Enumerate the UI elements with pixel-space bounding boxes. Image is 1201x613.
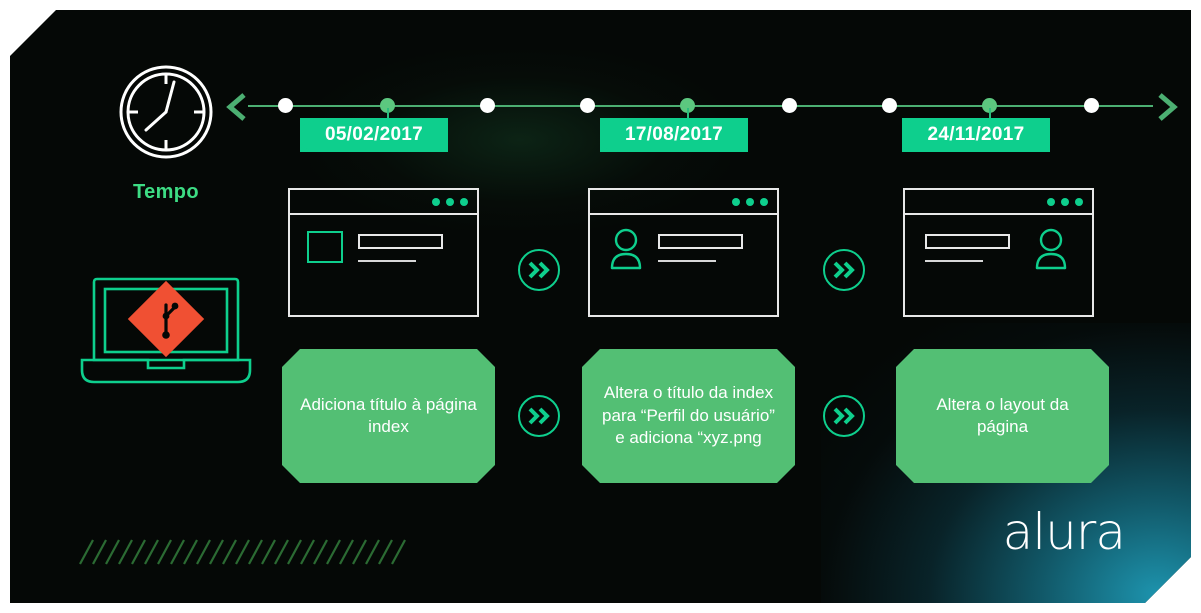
date-badge-text: 17/08/2017 [625,124,723,146]
window-dots-icon [905,190,1092,215]
user-avatar-icon [606,228,646,270]
commit-card-3[interactable]: Altera o layout da página [896,349,1109,483]
double-chevron-right-icon[interactable] [518,395,560,437]
commit-card-1[interactable]: Adiciona título à página index [282,349,495,483]
date-badge-2[interactable]: 17/08/2017 [600,118,748,152]
date-badge-text: 24/11/2017 [927,124,1024,146]
timeline-dot[interactable] [480,98,495,113]
window-dots-icon [590,190,777,215]
browser-mockup-3 [903,188,1094,317]
screenshot-root: Tempo [0,0,1201,613]
date-badge-1[interactable]: 05/02/2017 [300,118,448,152]
time-legend: Tempo [108,62,224,204]
laptop-icon [76,268,256,393]
content-line [658,260,716,262]
time-legend-label: Tempo [108,181,224,204]
chevron-left-icon[interactable] [224,92,252,122]
user-avatar-icon [1031,228,1071,270]
double-chevron-right-icon[interactable] [518,249,560,291]
clock-icon [108,62,224,162]
timeline-dot[interactable] [782,98,797,113]
browser-mockup-2 [588,188,779,317]
git-logo-icon [128,281,204,357]
content-rect [658,234,743,249]
commit-card-2[interactable]: Altera o título da index para “Perfil do… [582,349,795,483]
window-dots-icon [290,190,477,215]
content-line [925,260,983,262]
date-badge-text: 05/02/2017 [325,124,423,146]
browser-mockup-1 [288,188,479,317]
double-chevron-right-icon[interactable] [823,249,865,291]
commit-message: Altera o layout da página [910,394,1095,439]
dark-panel: Tempo [10,10,1191,603]
chevron-right-icon[interactable] [1152,92,1180,122]
timeline-dot[interactable] [580,98,595,113]
content-rect [925,234,1010,249]
image-placeholder-icon [307,231,343,263]
timeline-dot[interactable] [278,98,293,113]
content-rect [358,234,443,249]
timeline-dot[interactable] [1084,98,1099,113]
timeline-dot[interactable] [882,98,897,113]
diagonal-hatch-lines [68,534,408,572]
commit-message: Adiciona título à página index [296,394,481,439]
double-chevron-right-icon[interactable] [823,395,865,437]
commit-message: Altera o título da index para “Perfil do… [596,382,781,449]
date-badge-3[interactable]: 24/11/2017 [902,118,1050,152]
content-line [358,260,416,262]
alura-logo: alura [1003,503,1125,561]
